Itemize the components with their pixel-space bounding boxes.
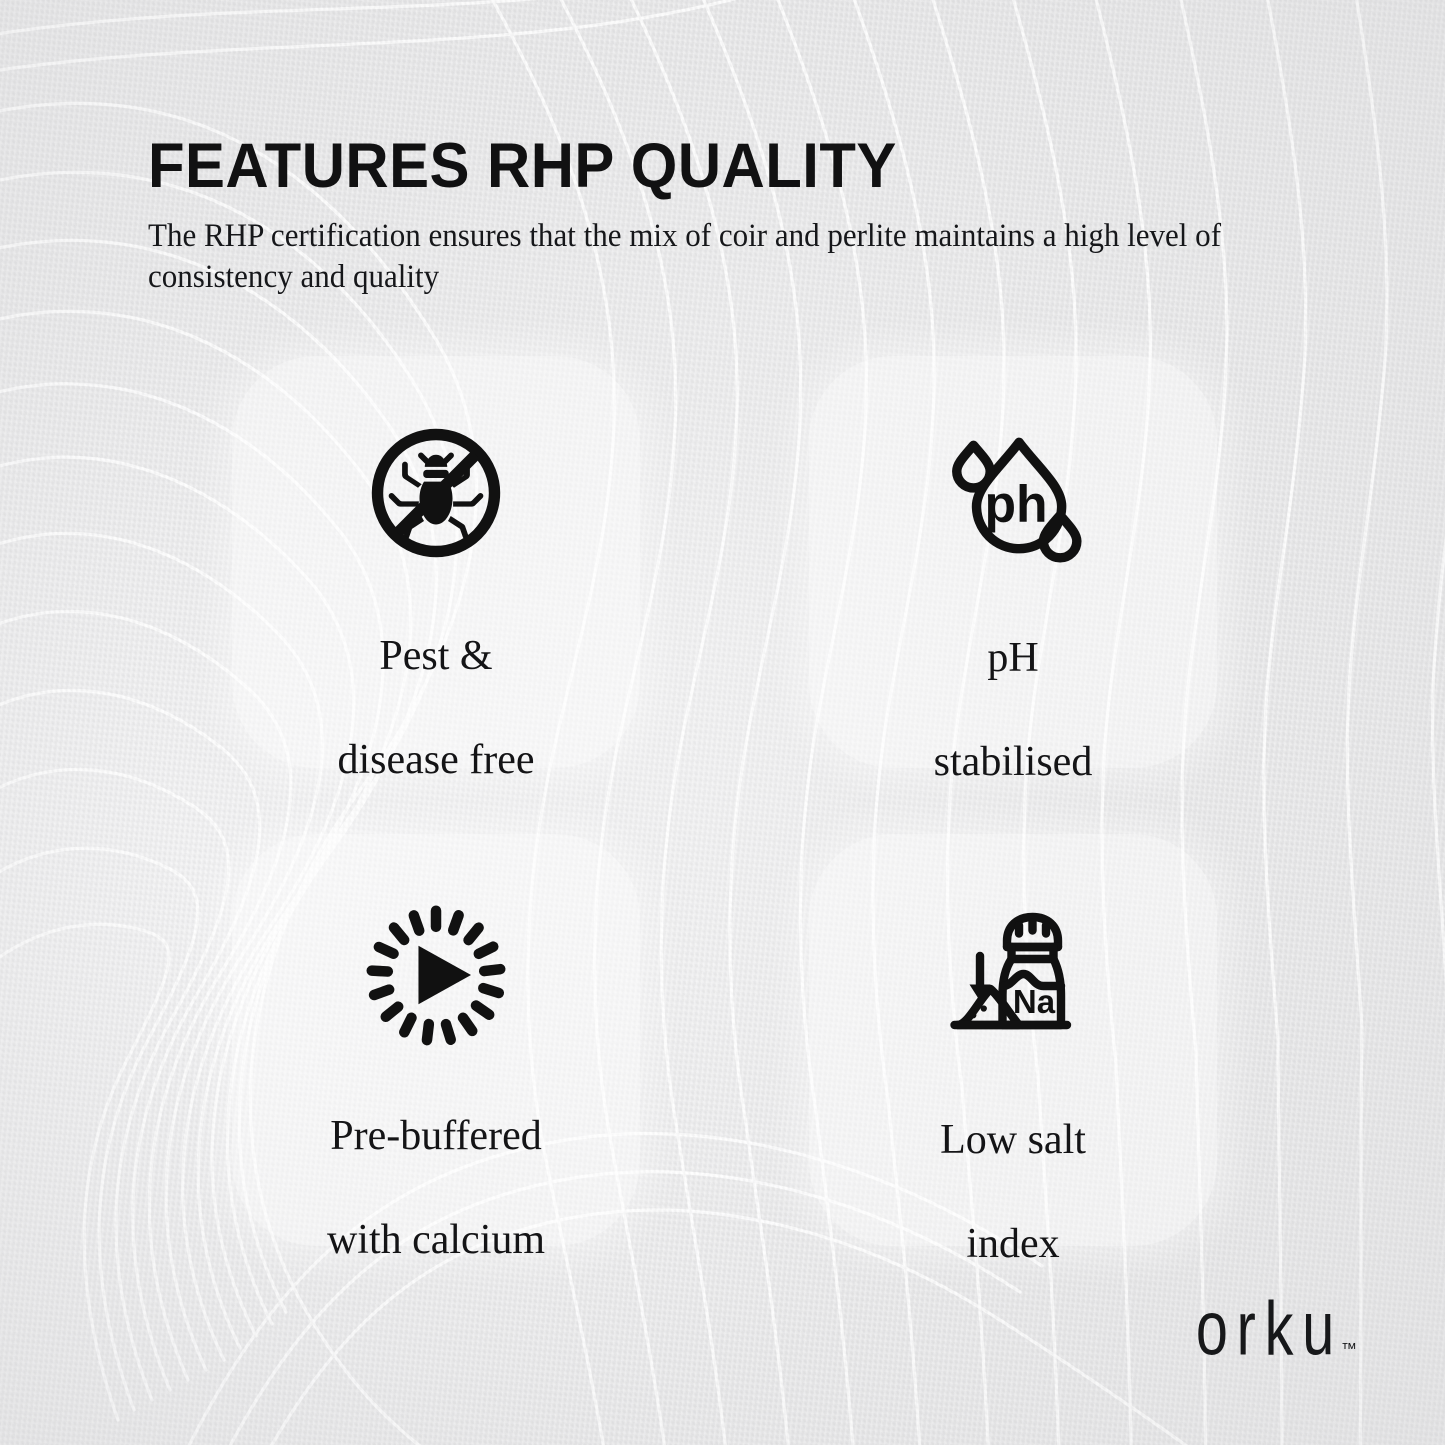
header: FEATURES RHP QUALITY The RHP certificati… (148, 136, 1308, 298)
feature-card-pest-disease-free: Pest & disease free (232, 356, 640, 768)
salt-shaker-icon: Na (938, 902, 1088, 1052)
feature-label-line2: disease free (337, 737, 534, 783)
feature-label: Pre-buffered with calcium (327, 1058, 545, 1266)
feature-label: Pest & disease free (337, 578, 534, 786)
feature-icon-slot (361, 418, 511, 568)
feature-label-line1: Pre-buffered (330, 1113, 541, 1159)
feature-card-ph-stabilised: ph pH stabilised (809, 356, 1217, 768)
feature-icon-slot (363, 902, 509, 1048)
feature-label-line2: stabilised (934, 739, 1093, 785)
feature-card-low-salt-index: Na Low salt index (809, 834, 1217, 1246)
trademark-symbol: ™ (1341, 1342, 1357, 1358)
feature-icon-slot: Na (938, 902, 1088, 1052)
feature-label-line1: Pest & (379, 633, 492, 679)
feature-label-line2: index (966, 1221, 1059, 1267)
no-pest-icon (361, 418, 511, 568)
feature-label-line1: pH (987, 635, 1038, 681)
feature-label: pH stabilised (934, 580, 1093, 788)
brand-logo: orku ™ (1159, 1295, 1357, 1367)
poster-canvas: FEATURES RHP QUALITY The RHP certificati… (0, 0, 1445, 1445)
page-subtitle: The RHP certification ensures that the m… (148, 216, 1285, 298)
logo-wordmark: orku (1196, 1291, 1343, 1367)
buffering-play-icon (363, 902, 509, 1048)
feature-icon-slot: ph (937, 418, 1089, 570)
page-title: FEATURES RHP QUALITY (148, 136, 1250, 196)
feature-card-pre-buffered: Pre-buffered with calcium (232, 834, 640, 1246)
ph-icon-text: ph (984, 474, 1047, 532)
feature-label-line2: with calcium (327, 1217, 545, 1263)
feature-label: Low salt index (940, 1062, 1086, 1270)
ph-droplet-icon: ph (937, 418, 1089, 570)
feature-label-line1: Low salt (940, 1117, 1086, 1163)
salt-icon-text: Na (1013, 983, 1056, 1020)
features-grid: Pest & disease free ph (232, 356, 1217, 1256)
